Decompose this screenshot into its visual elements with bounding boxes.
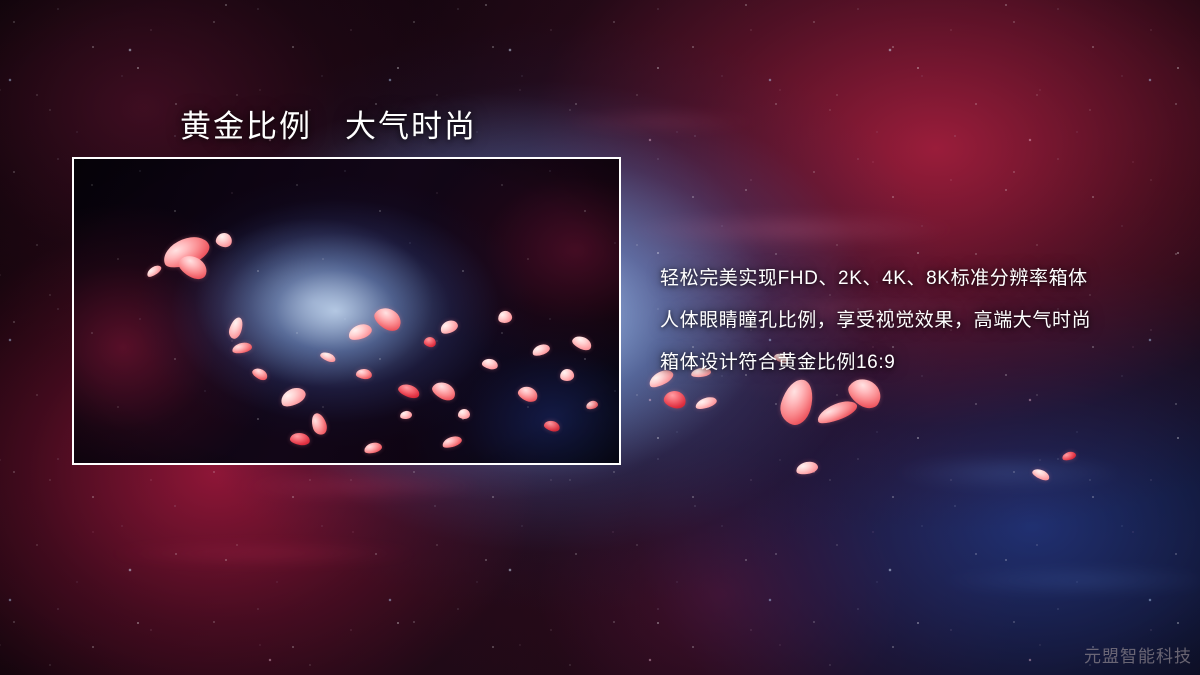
watermark-label: 元盟智能科技 bbox=[1084, 642, 1192, 667]
body-line-1: 轻松完美实现FHD、2K、4K、8K标准分辨率箱体 bbox=[660, 258, 1160, 300]
body-line-2: 人体眼睛瞳孔比例，享受视觉效果，高端大气时尚 bbox=[660, 300, 1160, 342]
petal bbox=[694, 395, 718, 411]
petal bbox=[1031, 467, 1051, 483]
body-text-block: 轻松完美实现FHD、2K、4K、8K标准分辨率箱体 人体眼睛瞳孔比例，享受视觉效… bbox=[660, 258, 1160, 384]
panel-vignette bbox=[74, 159, 619, 463]
image-frame bbox=[72, 157, 621, 465]
body-line-3: 箱体设计符合黄金比例16:9 bbox=[660, 342, 1160, 384]
petal bbox=[795, 460, 819, 476]
petal bbox=[1061, 450, 1077, 462]
presentation-slide: 黄金比例 大气时尚 轻松完美实现FHD、2K、4K、8K标准分辨率箱体 人体眼睛… bbox=[0, 0, 1200, 675]
slide-title: 黄金比例 大气时尚 bbox=[180, 101, 477, 146]
petal bbox=[815, 397, 860, 428]
petal bbox=[662, 389, 687, 411]
